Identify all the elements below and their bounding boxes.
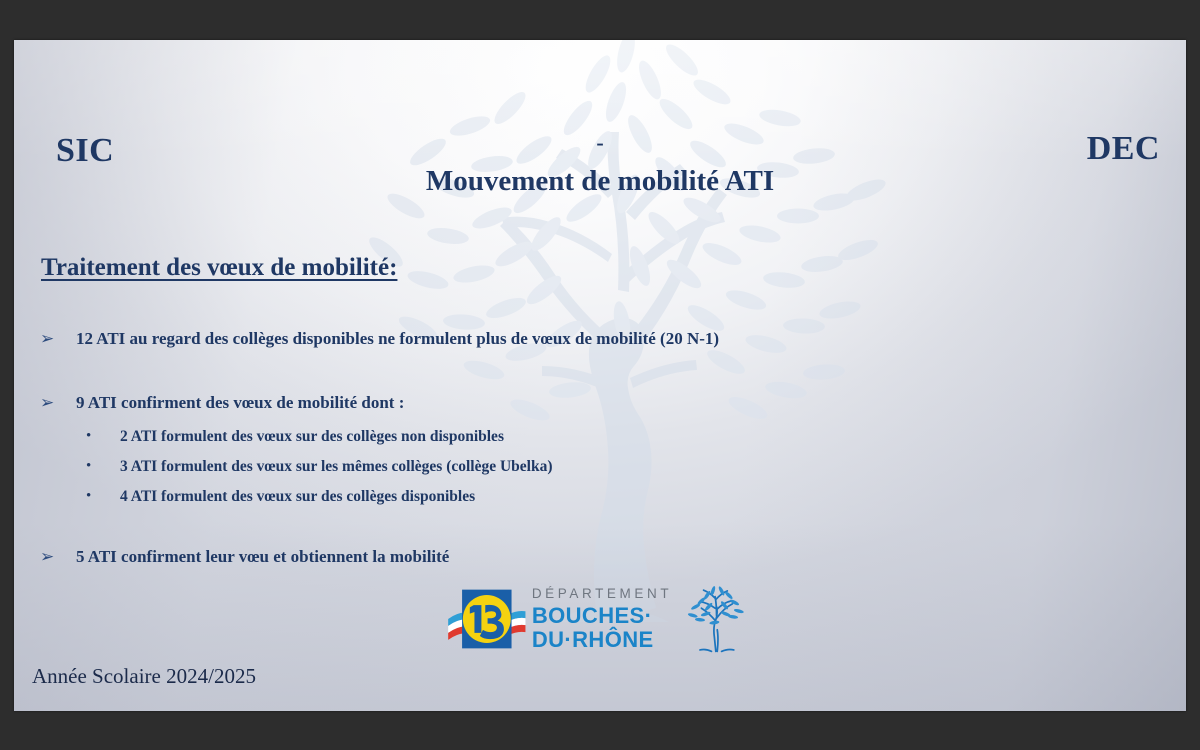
logo-line-departement: DÉPARTEMENT (532, 587, 672, 601)
sub-bullet-text: 2 ATI formulent des vœux sur des collège… (120, 426, 504, 447)
olive-tree-logo-icon (680, 585, 752, 653)
sub-bullet-list: • 2 ATI formulent des vœux sur des collè… (86, 426, 1156, 507)
bullet-list: ➢ 12 ATI au regard des collèges disponib… (40, 328, 1156, 568)
logo-line-du-rhone: DU·RHÔNE (532, 629, 672, 651)
section-title: Traitement des vœux de mobilité: (41, 254, 397, 282)
logo-wordmark: DÉPARTEMENT BOUCHES· DU·RHÔNE (532, 587, 672, 651)
presentation-slide: SIC DEC - Mouvement de mobilité ATI Trai… (14, 40, 1186, 711)
dot-bullet-icon: • (86, 456, 120, 477)
header-dash: - (14, 136, 1186, 150)
spacer (40, 516, 1156, 546)
header-center: - Mouvement de mobilité ATI (14, 136, 1186, 198)
dot-bullet-icon: • (86, 486, 120, 507)
sub-bullet-text: 3 ATI formulent des vœux sur les mêmes c… (120, 456, 553, 477)
departement-logo: DÉPARTEMENT BOUCHES· DU·RHÔNE (448, 585, 752, 653)
sub-bullet-item: • 4 ATI formulent des vœux sur des collè… (86, 486, 1156, 507)
bullet-text: 5 ATI confirment leur vœu et obtiennent … (76, 546, 449, 568)
page-title: Mouvement de mobilité ATI (14, 164, 1186, 198)
sub-bullet-text: 4 ATI formulent des vœux sur des collège… (120, 486, 475, 507)
bullet-item: ➢ 5 ATI confirment leur vœu et obtiennen… (40, 546, 1156, 568)
spacer (40, 350, 1156, 392)
bullet-item: ➢ 9 ATI confirment des vœux de mobilité … (40, 392, 1156, 414)
sub-bullet-item: • 2 ATI formulent des vœux sur des collè… (86, 426, 1156, 447)
dot-bullet-icon: • (86, 426, 120, 447)
bullet-item: ➢ 12 ATI au regard des collèges disponib… (40, 328, 1156, 350)
arrow-bullet-icon: ➢ (40, 392, 76, 414)
arrow-bullet-icon: ➢ (40, 546, 76, 568)
arrow-bullet-icon: ➢ (40, 328, 76, 350)
footer-school-year: Année Scolaire 2024/2025 (32, 664, 256, 689)
bullet-text: 12 ATI au regard des collèges disponible… (76, 328, 719, 350)
bullet-text: 9 ATI confirment des vœux de mobilité do… (76, 392, 404, 414)
bouches-du-rhone-crest-icon (448, 585, 526, 653)
screenshot-canvas: SIC DEC - Mouvement de mobilité ATI Trai… (0, 0, 1200, 750)
logo-line-bouches: BOUCHES· (532, 605, 672, 627)
sub-bullet-item: • 3 ATI formulent des vœux sur les mêmes… (86, 456, 1156, 477)
